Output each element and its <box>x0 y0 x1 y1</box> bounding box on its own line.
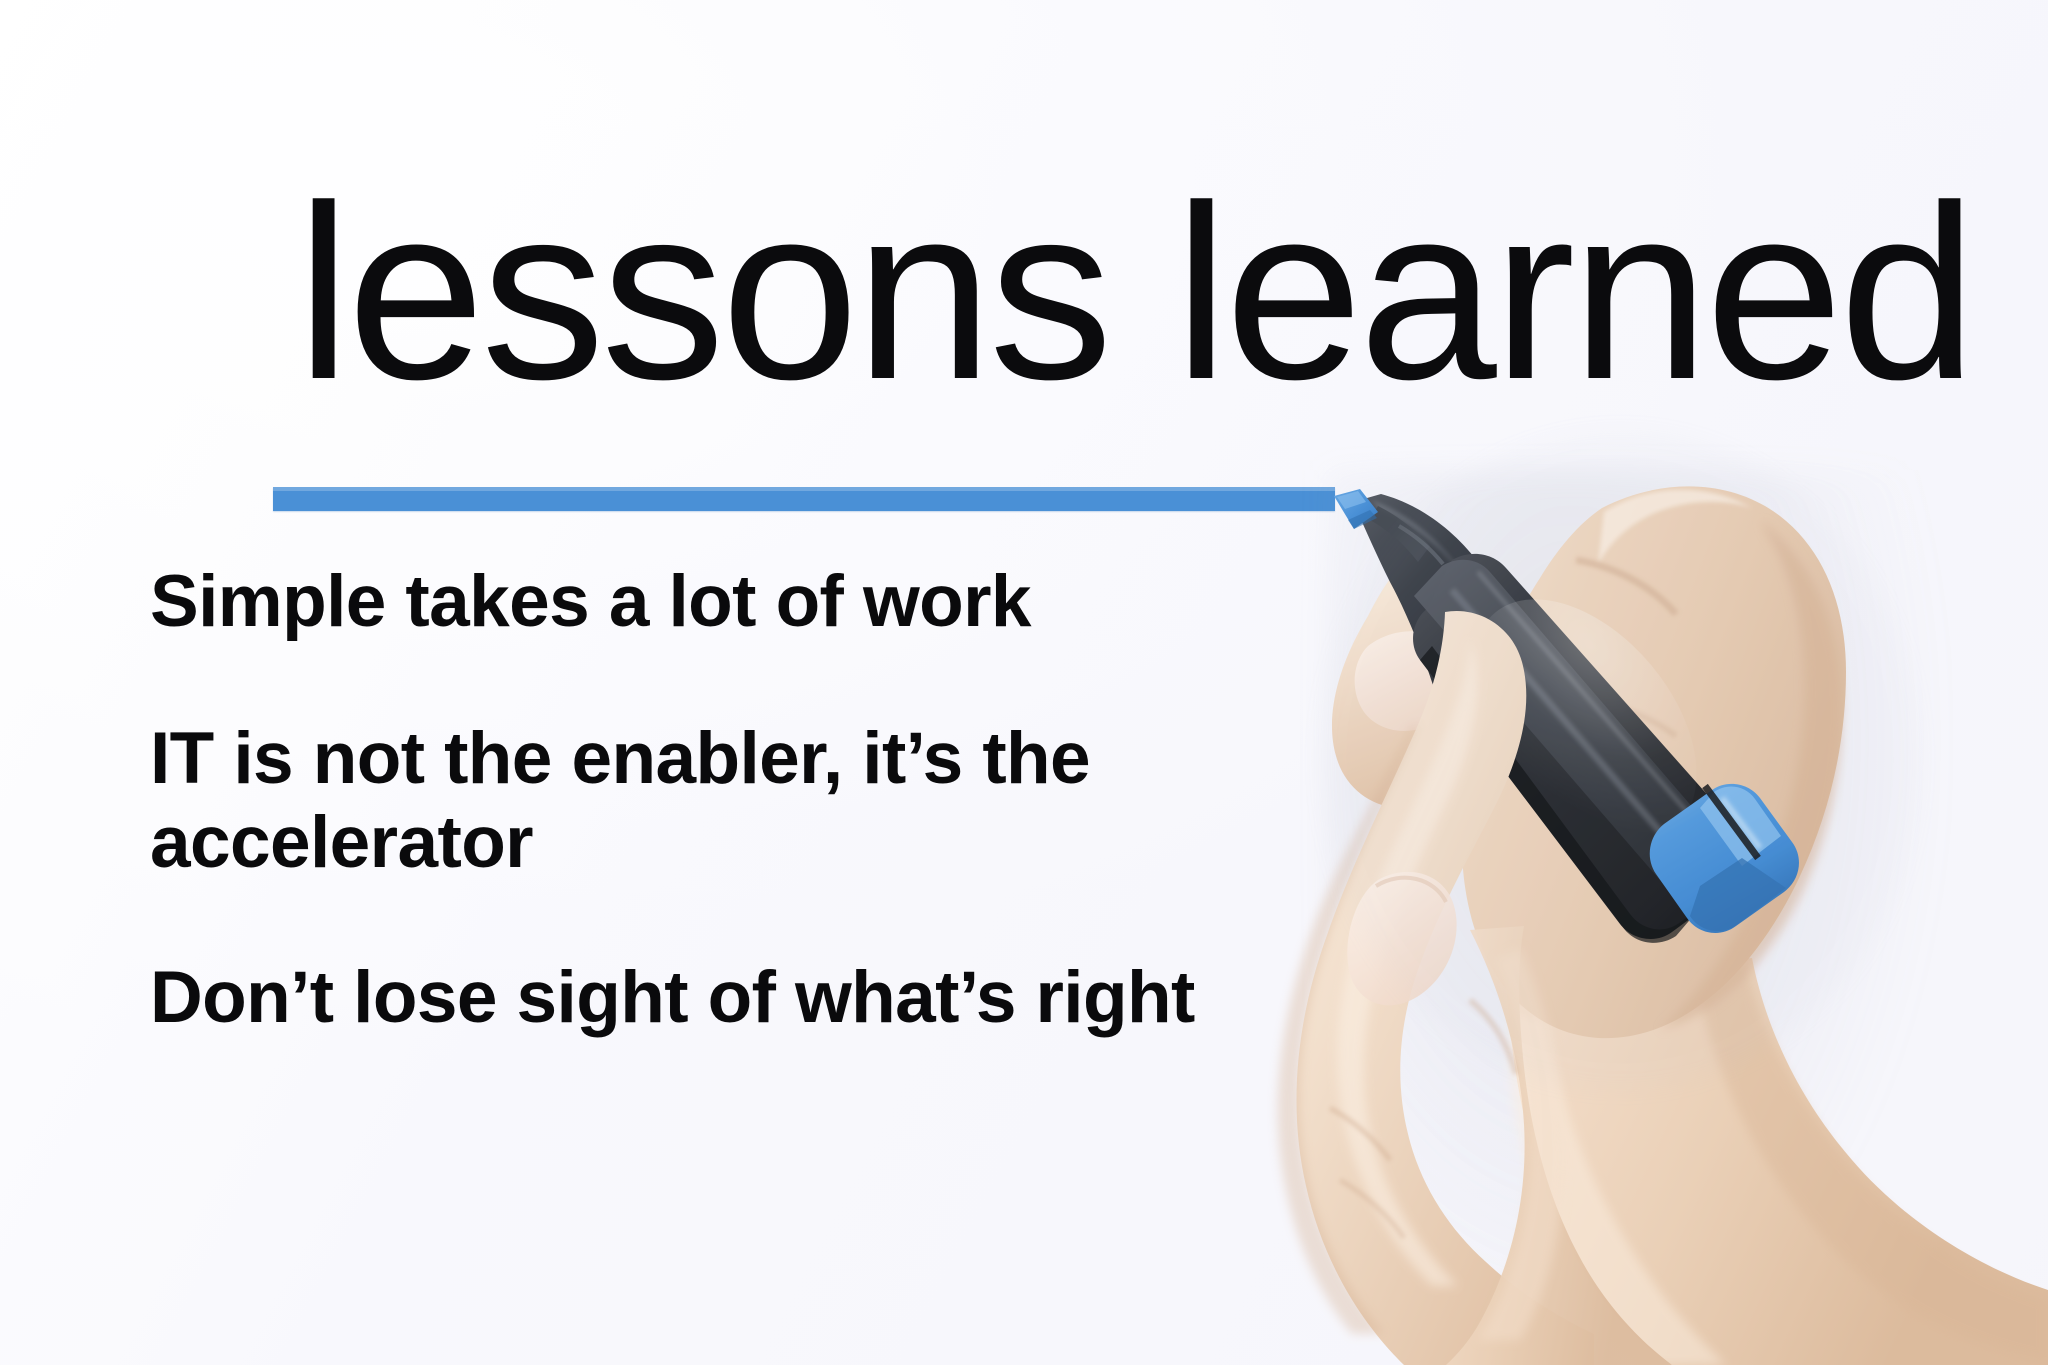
bullet-list: Simple takes a lot of work IT is not the… <box>150 560 1290 1041</box>
highlighter-stroke <box>273 487 1335 511</box>
slide-canvas: lessons learned Simple takes a lot of wo… <box>0 0 2048 1365</box>
list-item: IT is not the enabler, it’s the accelera… <box>150 717 1290 886</box>
hand-shadow <box>1325 470 1945 1365</box>
list-item: Don’t lose sight of what’s right <box>150 956 1290 1041</box>
page-title: lessons learned <box>296 168 1973 416</box>
list-item: Simple takes a lot of work <box>150 560 1290 645</box>
